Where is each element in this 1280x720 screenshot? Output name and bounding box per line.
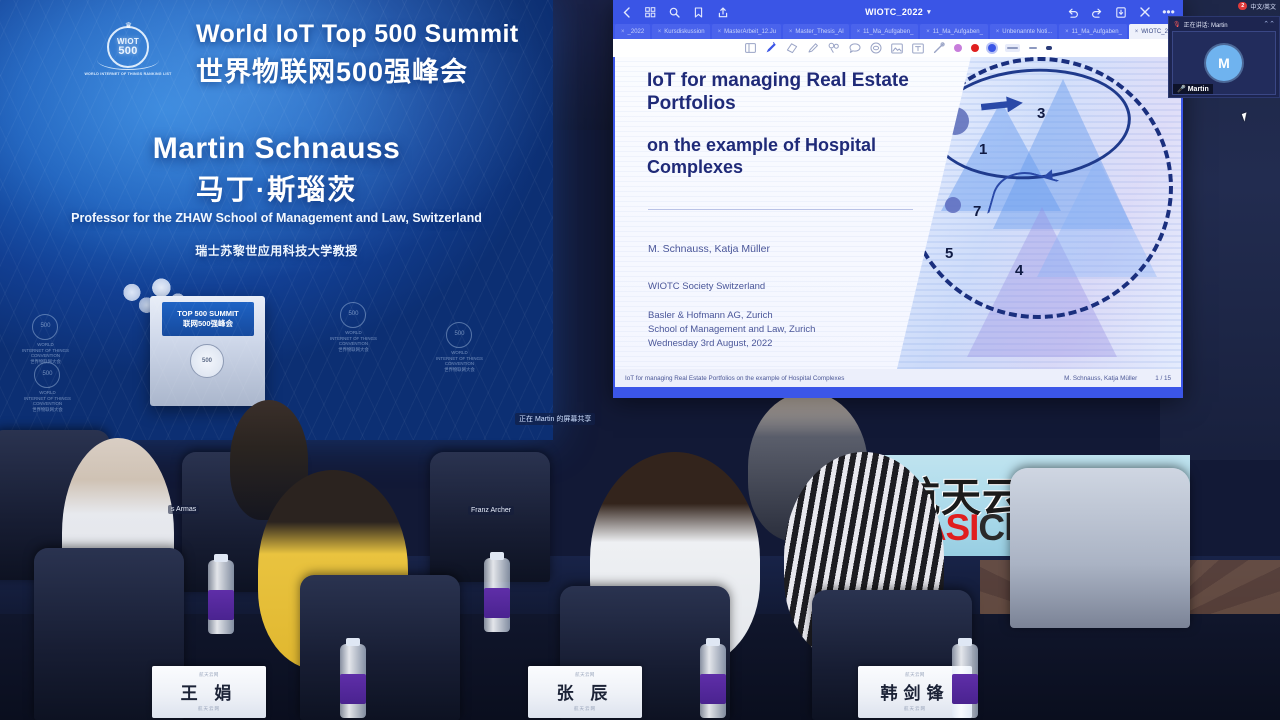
chair <box>1010 468 1190 628</box>
tab-close-icon[interactable]: × <box>1065 29 1069 35</box>
titlebar-right-actions: ••• <box>1066 0 1175 24</box>
placard-name: 王 娟 <box>181 679 238 704</box>
slide-canvas-area[interactable]: 1 3 7 5 4 IoT for managing Real Estate P… <box>613 57 1183 398</box>
notification-area: 2 中文/英文 <box>1238 0 1276 12</box>
color-swatch-red[interactable] <box>971 44 979 52</box>
slide-footer-page: 1 / 15 <box>1155 375 1171 382</box>
speaker-name-en: Martin Schnauss <box>0 132 553 166</box>
tab-label: Kursdiskussion <box>664 29 704 35</box>
speaker-role-cn: 瑞士苏黎世应用科技大学教授 <box>60 242 493 259</box>
document-tabstrip: ×_2022 ×Kursdiskussion ×MasterArbeit_12.… <box>613 24 1183 39</box>
projection-screen: ♛ WIOT 500 WORLD INTERNET OF THINGS RANK… <box>0 0 553 440</box>
diagram-label-7: 7 <box>973 203 981 220</box>
watermark-ring: 500 <box>340 302 366 328</box>
presentation-slide[interactable]: 1 3 7 5 4 IoT for managing Real Estate P… <box>615 57 1181 387</box>
ruler-icon[interactable] <box>933 42 945 54</box>
slide-organization: WIOTC Society Switzerland <box>648 281 765 292</box>
panel-toggle-icon[interactable] <box>744 42 756 54</box>
summit-title-cn: 世界物联网500强峰会 <box>196 50 468 89</box>
chair <box>300 575 460 720</box>
pen-icon[interactable] <box>765 42 777 54</box>
tab-item[interactable]: ×Unbenannte Noti... <box>990 24 1057 39</box>
watermark-logo: 500 WORLDINTERNET OF THINGSCONVENTION世界物… <box>24 362 71 413</box>
back-chevron-icon[interactable] <box>620 6 633 19</box>
tab-close-icon[interactable]: × <box>926 29 930 35</box>
slide-divider <box>648 209 913 210</box>
audience-nametag: s Armas <box>168 505 199 514</box>
tab-close-icon[interactable]: × <box>996 29 1000 35</box>
app-titlebar: WIOTC_2022 ▾ ••• <box>613 0 1183 24</box>
tab-close-icon[interactable]: × <box>658 29 662 35</box>
slide-affiliation-line1: Basler & Hofmann AG, Zurich <box>648 310 773 321</box>
podium-sign: TOP 500 SUMMIT 联网500强峰会 <box>162 302 254 336</box>
placard-org-top: 航天云网 <box>575 672 595 678</box>
slide-affiliation: Basler & Hofmann AG, Zurich School of Ma… <box>648 309 815 350</box>
speaker-role-en: Professor for the ZHAW School of Managem… <box>60 210 493 227</box>
undo-icon[interactable] <box>1066 6 1079 19</box>
placard-org: 航天云网 <box>198 706 220 712</box>
speaker-name-cn: 马丁·斯瑙茨 <box>0 168 553 208</box>
zoom-participant-panel[interactable]: 🎙 正在讲话: Martin ⌃⌃ M 🎤 Martin <box>1168 16 1280 98</box>
logo-crown-icon: ♛ <box>125 21 131 30</box>
diagram-label-1: 1 <box>979 141 987 158</box>
tab-item[interactable]: ×MasterArbeit_12.Ju <box>712 24 781 39</box>
diagram-label-4: 4 <box>1015 262 1023 279</box>
water-bottle <box>700 644 726 718</box>
diagram-label-3: 3 <box>1037 105 1045 122</box>
bookmark-icon[interactable] <box>692 6 705 19</box>
microphone-icon: 🎙 <box>1173 21 1181 28</box>
tab-label: _2022 <box>628 29 645 35</box>
watermark-ring: 500 <box>32 314 58 340</box>
document-title[interactable]: WIOTC_2022 <box>865 7 923 17</box>
save-document-icon[interactable] <box>1114 6 1127 19</box>
water-bottle <box>484 558 510 632</box>
water-bottle <box>208 560 234 634</box>
close-icon[interactable] <box>1138 6 1151 19</box>
slide-authors: M. Schnauss, Katja Müller <box>648 243 770 255</box>
tab-label: Master_Thesis_AI <box>795 29 843 35</box>
zoom-speaking-label: 正在讲话: Martin <box>1184 20 1228 29</box>
placard-name: 韩剑锋 <box>881 679 950 704</box>
water-bottle <box>340 644 366 718</box>
stroke-width-medium[interactable] <box>1005 44 1020 52</box>
tab-item[interactable]: ×Master_Thesis_AI <box>783 24 849 39</box>
zoom-panel-header: 🎙 正在讲话: Martin ⌃⌃ <box>1169 17 1279 31</box>
chevron-up-icon[interactable]: ⌃⌃ <box>1263 20 1275 28</box>
watermark-logo: 500 WORLDINTERNET OF THINGSCONVENTION世界物… <box>330 302 377 353</box>
slide-affiliation-line3: Wednesday 3rd August, 2022 <box>648 338 772 349</box>
share-icon[interactable] <box>716 6 729 19</box>
insert-image-icon[interactable] <box>891 42 903 54</box>
tab-close-icon[interactable]: × <box>789 29 793 35</box>
podium-sign-en: TOP 500 SUMMIT <box>177 309 238 319</box>
whiteboard-app-window: WIOTC_2022 ▾ ••• ×_2022 ×Kursdiskussion … <box>613 0 1183 398</box>
tab-close-icon[interactable]: × <box>857 29 861 35</box>
lasso-select-icon[interactable] <box>828 42 840 54</box>
zoom-participant-name-tag: 🎤 Martin <box>1173 84 1213 94</box>
placard-org: 航天云网 <box>904 706 926 712</box>
speaker-podium: TOP 500 SUMMIT 联网500强峰会 500 <box>150 296 265 406</box>
highlighter-icon[interactable] <box>807 42 819 54</box>
tab-label: 11_Ma_Aufgaben_ <box>863 29 913 35</box>
slide-footer-title: IoT for managing Real Estate Portfolios … <box>625 375 844 382</box>
wiot-500-logo: ♛ WIOT 500 WORLD INTERNET OF THINGS RANK… <box>96 20 160 82</box>
logo-line2: 500 <box>118 46 137 57</box>
titlebar-left-actions <box>620 6 729 19</box>
drawing-toolbar <box>613 39 1183 57</box>
tab-close-icon[interactable]: × <box>1135 29 1139 35</box>
name-placard: 航天云网 张 辰 航天云网 <box>528 666 642 718</box>
slide-subtitle: on the example of Hospital Complexes <box>647 135 967 179</box>
slide-footer-authors: M. Schnauss, Katja Müller <box>1064 375 1137 382</box>
audience-nametag: Franz Archer <box>468 506 514 515</box>
tab-close-icon[interactable]: × <box>621 29 625 35</box>
placard-name: 张 辰 <box>557 679 614 704</box>
eraser-icon[interactable] <box>786 42 798 54</box>
slide-title: IoT for managing Real Estate Portfolios <box>647 69 977 115</box>
podium-emblem: 500 <box>190 344 224 378</box>
tab-label: 11_Ma_Aufgaben_ <box>933 29 983 35</box>
tab-item[interactable]: ×11_Ma_Aufgaben_ <box>1059 24 1127 39</box>
search-icon[interactable] <box>668 6 681 19</box>
tab-label: Unbenannte Noti... <box>1002 29 1052 35</box>
stamp-icon[interactable] <box>870 42 882 54</box>
diagram-label-5: 5 <box>945 245 953 262</box>
water-bottle <box>952 644 978 718</box>
name-placard: 航天云网 王 娟 航天云网 <box>152 666 266 718</box>
watermark-ring: 500 <box>34 362 60 388</box>
podium-sign-cn: 联网500强峰会 <box>183 319 233 329</box>
tab-label: 11_Ma_Aufgaben_ <box>1072 29 1122 35</box>
zoom-participant-name: Martin <box>1188 86 1209 93</box>
stroke-width-thin[interactable] <box>1029 47 1037 49</box>
speech-bubble-icon[interactable] <box>849 42 861 54</box>
grid-view-icon[interactable] <box>644 6 657 19</box>
tab-item[interactable]: ×11_Ma_Aufgaben_ <box>920 24 988 39</box>
zoom-video-tile[interactable]: M 🎤 Martin <box>1172 31 1276 95</box>
logo-subtitle: WORLD INTERNET OF THINGS RANKING LIST <box>84 72 171 76</box>
color-swatch-blue[interactable] <box>988 44 996 52</box>
notification-badge[interactable]: 2 <box>1238 2 1247 10</box>
slide-affiliation-line2: School of Management and Law, Zurich <box>648 324 815 335</box>
placard-org-top: 航天云网 <box>199 672 219 678</box>
text-box-icon[interactable] <box>912 42 924 54</box>
screen-share-banner: 正在 Martin 的屏幕共享 <box>515 413 595 425</box>
tab-close-icon[interactable]: × <box>718 29 722 35</box>
placard-org-top: 航天云网 <box>905 672 925 678</box>
avatar: M <box>1206 45 1242 81</box>
watermark-logo: 500 WORLDINTERNET OF THINGSCONVENTION世界物… <box>436 322 483 373</box>
slide-footer: IoT for managing Real Estate Portfolios … <box>615 369 1181 387</box>
tab-item[interactable]: ×11_Ma_Aufgaben_ <box>851 24 919 39</box>
notification-label: 中文/英文 <box>1250 2 1276 11</box>
tab-item[interactable]: ×Kursdiskussion <box>652 24 710 39</box>
tab-label: MasterArbeit_12.Ju <box>724 29 776 35</box>
placard-org: 航天云网 <box>574 706 596 712</box>
watermark-ring: 500 <box>446 322 472 348</box>
diagram-node-small <box>945 197 961 213</box>
redo-icon[interactable] <box>1090 6 1103 19</box>
logo-wave-decoration <box>97 60 159 70</box>
stroke-width-dot[interactable] <box>1046 46 1052 50</box>
color-swatch-purple[interactable] <box>954 44 962 52</box>
summit-title-en: World IoT Top 500 Summit <box>196 20 519 49</box>
chevron-down-icon[interactable]: ▾ <box>927 8 931 16</box>
watermark-logo: 500 WORLDINTERNET OF THINGSCONVENTION世界物… <box>22 314 69 365</box>
tab-item[interactable]: ×_2022 <box>615 24 650 39</box>
mic-active-icon: 🎤 <box>1177 85 1186 93</box>
